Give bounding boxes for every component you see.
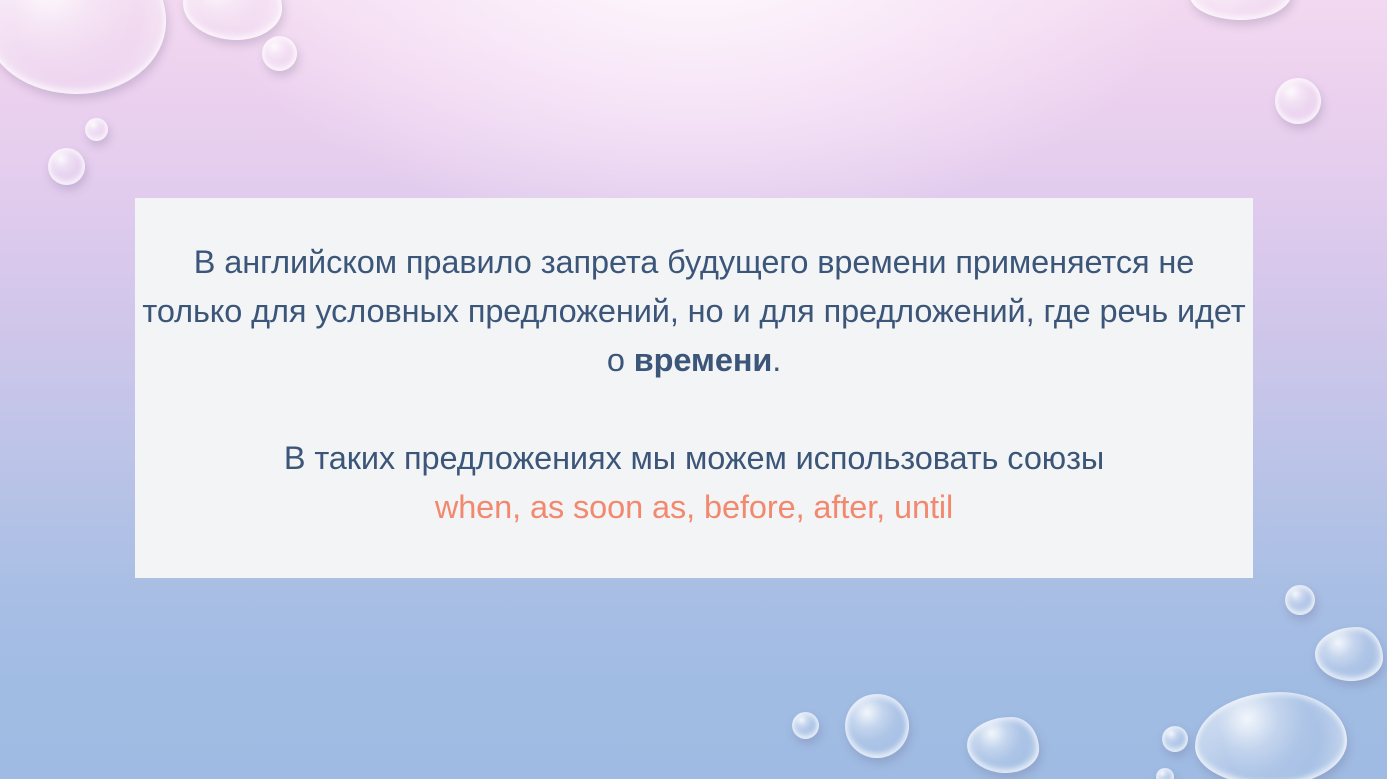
bubble-decoration: [1190, 0, 1292, 20]
paragraph-rule-bold-term: времени: [634, 342, 773, 378]
bubble-decoration: [1285, 585, 1315, 615]
bubble-decoration: [85, 118, 108, 141]
paragraph-conjunctions: В таких предложениях мы можем использова…: [141, 434, 1247, 532]
bubble-decoration: [845, 694, 909, 758]
bubble-decoration: [48, 148, 85, 185]
bubble-decoration: [262, 36, 297, 71]
bubble-decoration: [0, 0, 166, 94]
bubble-decoration: [183, 0, 282, 40]
bubble-decoration: [1195, 692, 1347, 779]
bubble-decoration: [1315, 627, 1383, 681]
bubble-decoration: [792, 712, 819, 739]
conjunction-list: when, as soon as, before, after, until: [435, 489, 953, 525]
paragraph-conjunctions-lead: В таких предложениях мы можем использова…: [284, 440, 1104, 476]
bubble-decoration: [1156, 768, 1174, 779]
bubble-decoration: [1275, 78, 1321, 124]
slide: В английском правило запрета будущего вр…: [0, 0, 1387, 779]
bubble-decoration: [967, 717, 1039, 773]
content-card: В английском правило запрета будущего вр…: [135, 198, 1253, 578]
bubble-decoration: [1162, 726, 1188, 752]
paragraph-rule-statement: В английском правило запрета будущего вр…: [141, 238, 1247, 385]
paragraph-rule-tail: .: [772, 342, 781, 378]
